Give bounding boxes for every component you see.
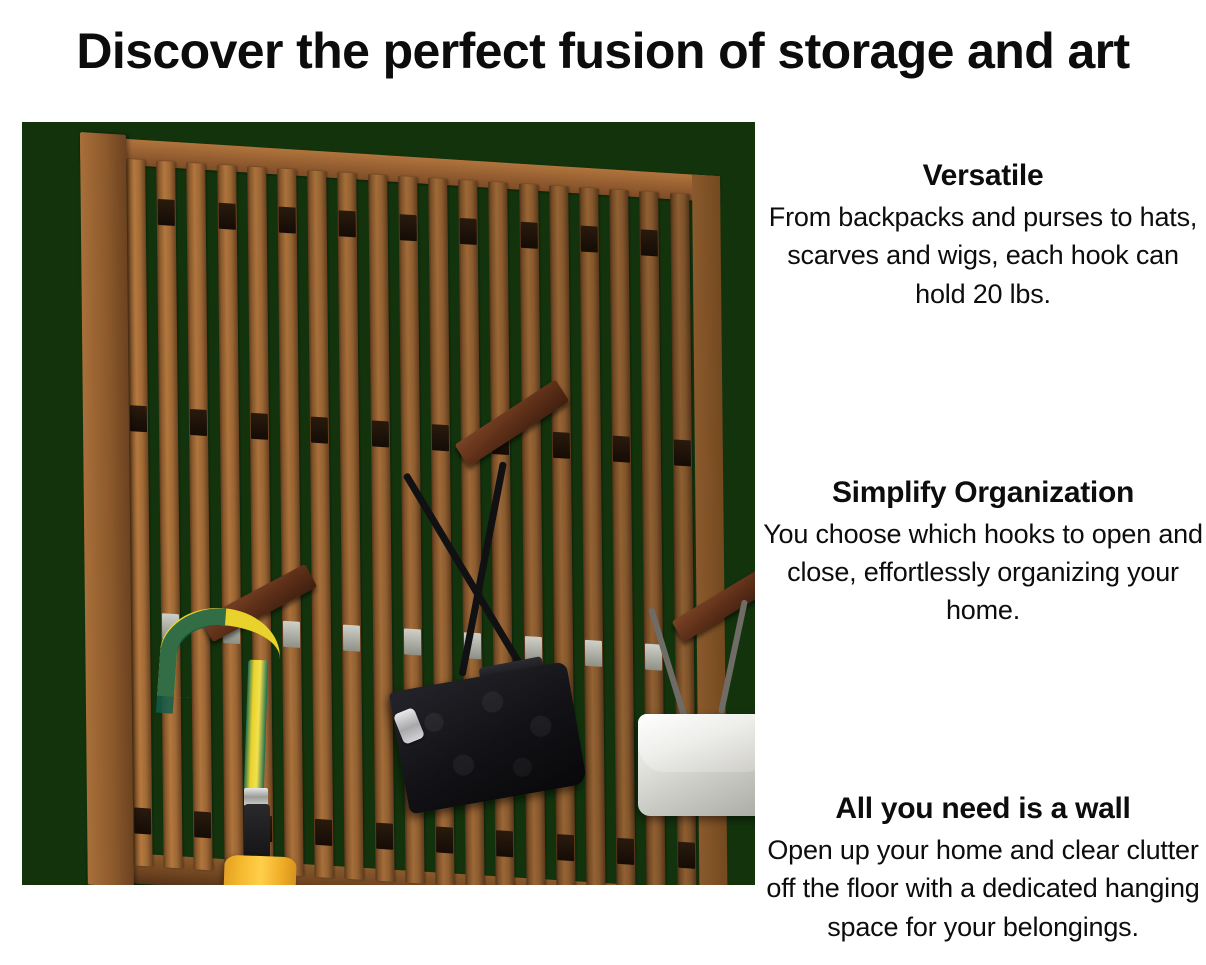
rack-slat-notch xyxy=(194,811,211,838)
rack-slat-notch xyxy=(343,625,360,652)
rack-slat-notch xyxy=(673,439,690,466)
rack-left-stile xyxy=(80,132,134,885)
rack-slat-notch xyxy=(190,409,207,436)
feature-block-versatile: Versatile From backpacks and purses to h… xyxy=(760,158,1206,313)
rack-slat-notch xyxy=(158,199,175,226)
rack-slat-notch xyxy=(617,838,634,865)
rack-slat-notch xyxy=(130,405,147,432)
rack-slat-notch xyxy=(279,207,296,234)
rack-slat-notch xyxy=(283,621,300,648)
rack-slat xyxy=(609,189,635,885)
rack-slat-notch xyxy=(553,432,570,459)
feature-title: Simplify Organization xyxy=(760,475,1206,511)
rack-slat-notch xyxy=(339,210,356,237)
feature-title: Versatile xyxy=(760,158,1206,194)
rack-slat-notch xyxy=(557,834,574,861)
rack-slat-notch xyxy=(432,424,449,451)
rack-slat xyxy=(307,170,333,878)
rack-slat-notch xyxy=(496,830,513,857)
rack-slat-notch xyxy=(251,413,268,440)
rack-slat-notch xyxy=(436,826,453,853)
rack-slat-notch xyxy=(520,222,537,249)
rack-slat xyxy=(368,174,394,882)
feature-body: You choose which hooks to open and close… xyxy=(760,515,1206,630)
rack-slat xyxy=(277,168,303,876)
feature-block-all-you-need-is-a-wall: All you need is a wall Open up your home… xyxy=(760,791,1206,946)
rack-slat-notch xyxy=(641,229,658,256)
feature-body: Open up your home and clear clutter off … xyxy=(760,831,1206,946)
umbrella-collar xyxy=(244,804,270,860)
rack-slat-notch xyxy=(581,226,598,253)
rack-slat xyxy=(338,172,364,880)
handbag-flap xyxy=(638,714,755,772)
rack-slat-notch xyxy=(399,214,416,241)
product-photo xyxy=(22,122,755,885)
rack-slat-notch xyxy=(376,823,393,850)
rack-slat-notch xyxy=(613,436,630,463)
rack-slat-notch xyxy=(134,807,151,834)
feature-copy-column: Versatile From backpacks and purses to h… xyxy=(760,122,1206,952)
rack-slat-notch xyxy=(460,218,477,245)
rack-slat xyxy=(156,161,182,869)
rack-slat-notch xyxy=(678,842,695,869)
rack-slat-notch xyxy=(315,819,332,846)
rack-slat-notch xyxy=(371,420,388,447)
rack-slat xyxy=(217,165,243,873)
feature-body: From backpacks and purses to hats, scarv… xyxy=(760,198,1206,313)
rack-slat-notch xyxy=(218,203,235,230)
rack-slat-notch xyxy=(585,640,602,667)
page-headline: Discover the perfect fusion of storage a… xyxy=(0,24,1206,79)
feature-title: All you need is a wall xyxy=(760,791,1206,827)
rack-slat xyxy=(187,163,213,871)
rack-slat-notch xyxy=(404,628,421,655)
rack-slat-notch xyxy=(311,417,328,444)
feature-block-simplify-organization: Simplify Organization You choose which h… xyxy=(760,475,1206,630)
product-feature-page: Discover the perfect fusion of storage a… xyxy=(0,0,1206,965)
rack-slat xyxy=(579,187,605,885)
umbrella-canopy xyxy=(219,855,297,885)
